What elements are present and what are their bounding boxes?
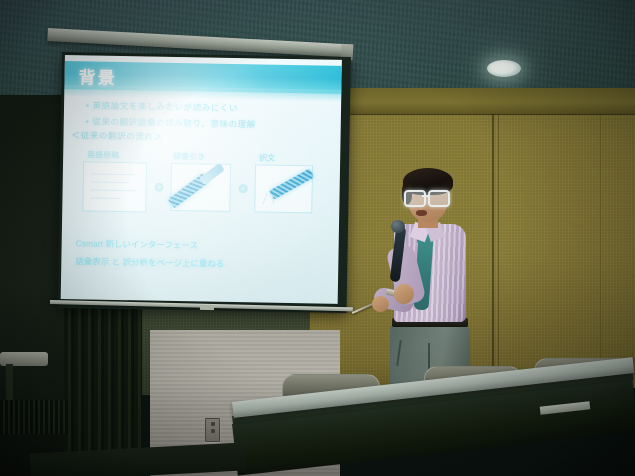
hand-holding-microphone bbox=[394, 284, 414, 304]
eyeglass-lens-left bbox=[404, 190, 426, 207]
eyeglass-lens-right bbox=[428, 190, 450, 207]
floor-grill bbox=[0, 400, 68, 434]
hand-holding-pointer bbox=[372, 296, 389, 312]
wall-panel-seam bbox=[492, 114, 494, 384]
slide-footer-line-1: Csmart 新しいインターフェース bbox=[76, 237, 199, 251]
diagram-box-1 bbox=[82, 161, 147, 212]
projection-screen: 背景 • 英語論文を楽しみたいが読みにくい • 従来の翻訳語彙の読み取り、意味の… bbox=[58, 52, 351, 313]
diagram-step-2-label: 辞書引き bbox=[173, 151, 205, 163]
recessed-ceiling-light bbox=[487, 60, 521, 77]
diagram-connector-1 bbox=[155, 183, 164, 192]
mouth bbox=[416, 210, 427, 216]
slide-bullet-2: • 従来の翻訳語彙の読み取り、意味の理解 bbox=[86, 115, 256, 130]
wall-trim-band bbox=[312, 88, 635, 115]
eyeglasses bbox=[404, 190, 450, 203]
diagram-step-3-label: 訳文 bbox=[259, 152, 275, 163]
photo-scene: 背景 • 英語論文を楽しみたいが読みにくい • 従来の翻訳語彙の読み取り、意味の… bbox=[0, 0, 635, 476]
wall-panel-seam bbox=[600, 114, 601, 364]
slide-title: 背景 bbox=[78, 63, 116, 89]
slide-bullet-3: ＜従来の翻訳の流れ＞ bbox=[71, 129, 162, 143]
microphone-head bbox=[391, 220, 405, 233]
projected-slide: 背景 • 英語論文を楽しみたいが読みにくい • 従来の翻訳語彙の読み取り、意味の… bbox=[61, 55, 342, 304]
slide-bullet-1: • 英語論文を楽しみたいが読みにくい bbox=[86, 99, 238, 114]
wall-outlet[interactable] bbox=[205, 418, 220, 442]
eyeglass-bridge bbox=[422, 195, 428, 197]
wall-panel-seam bbox=[498, 114, 499, 384]
slide-footer-line-2: 語彙表示 と 訳分析をページ上に重ねる bbox=[75, 255, 224, 270]
diagram-step-1-label: 英語原稿 bbox=[87, 149, 119, 161]
rail-clip bbox=[200, 305, 214, 310]
diagram-connector-2 bbox=[239, 184, 248, 193]
